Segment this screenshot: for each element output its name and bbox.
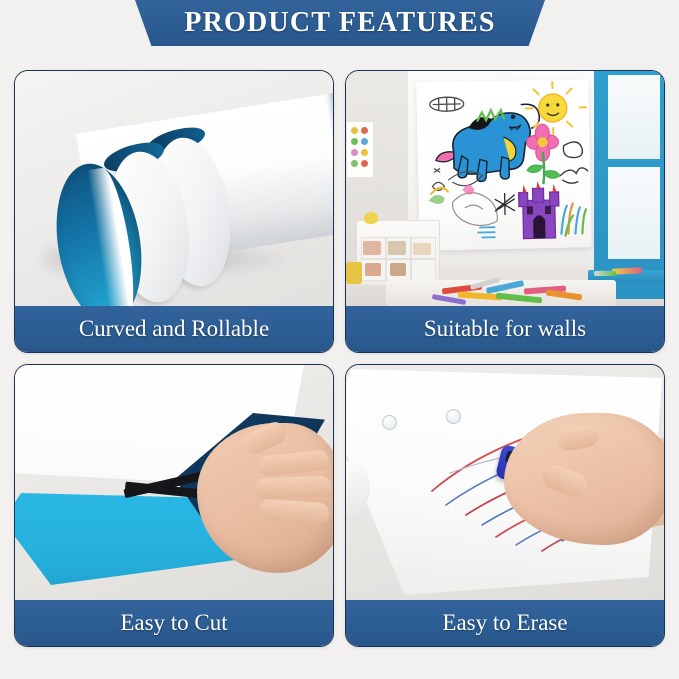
dragon-drawing bbox=[435, 104, 541, 182]
flower-drawing bbox=[526, 124, 560, 185]
marker-on-sill bbox=[594, 271, 616, 276]
childrens-drawings bbox=[416, 79, 591, 251]
window-glass bbox=[608, 167, 660, 259]
wall-whiteboard-sheet bbox=[416, 79, 591, 251]
poster-dot bbox=[351, 160, 358, 167]
wall-poster bbox=[346, 121, 374, 178]
castle-drawing bbox=[518, 181, 559, 239]
finger bbox=[255, 476, 332, 500]
panel-caption: Easy to Erase bbox=[346, 600, 664, 646]
poster-dot bbox=[361, 160, 368, 167]
plush-toy bbox=[364, 212, 378, 224]
poster-dot bbox=[361, 127, 368, 134]
poster-dot bbox=[361, 149, 368, 156]
storage-shelf bbox=[356, 220, 440, 286]
panel-caption: Curved and Rollable bbox=[15, 306, 333, 352]
header: PRODUCT FEATURES bbox=[0, 0, 679, 56]
photo-playroom-wall bbox=[346, 71, 664, 306]
window-glass bbox=[608, 75, 660, 159]
yellow-toy-bin bbox=[346, 262, 362, 284]
feature-panel-curved-and-rollable[interactable]: Curved and Rollable bbox=[14, 70, 334, 353]
feature-panel-easy-to-erase[interactable]: Easy to Erase bbox=[345, 364, 665, 647]
feature-panel-easy-to-cut[interactable]: Easy to Cut bbox=[14, 364, 334, 647]
shelf-cell bbox=[411, 259, 436, 281]
infographic-page: PRODUCT FEATURES Curved and Rollable bbox=[0, 0, 679, 679]
toy-bin bbox=[363, 241, 381, 255]
poster-dot bbox=[351, 149, 358, 156]
window-frame bbox=[594, 71, 664, 299]
poster-dot bbox=[361, 138, 368, 145]
photo-rolled-sheet bbox=[15, 71, 333, 306]
toy-bin bbox=[365, 263, 381, 276]
photo-erasing-sheet bbox=[346, 365, 664, 600]
toy-bin bbox=[390, 263, 406, 276]
sun-drawing bbox=[525, 81, 586, 134]
page-title: PRODUCT FEATURES bbox=[135, 0, 545, 46]
toy-bin bbox=[413, 243, 431, 255]
poster-dot bbox=[351, 138, 358, 145]
feature-grid: Curved and Rollable bbox=[14, 70, 665, 666]
poster-dot bbox=[351, 127, 358, 134]
panel-caption: Easy to Cut bbox=[15, 600, 333, 646]
toy-bin bbox=[388, 241, 406, 255]
photo-cutting-sheet bbox=[15, 365, 333, 600]
feature-panel-suitable-for-walls[interactable]: Suitable for walls bbox=[345, 70, 665, 353]
panel-caption: Suitable for walls bbox=[346, 306, 664, 352]
